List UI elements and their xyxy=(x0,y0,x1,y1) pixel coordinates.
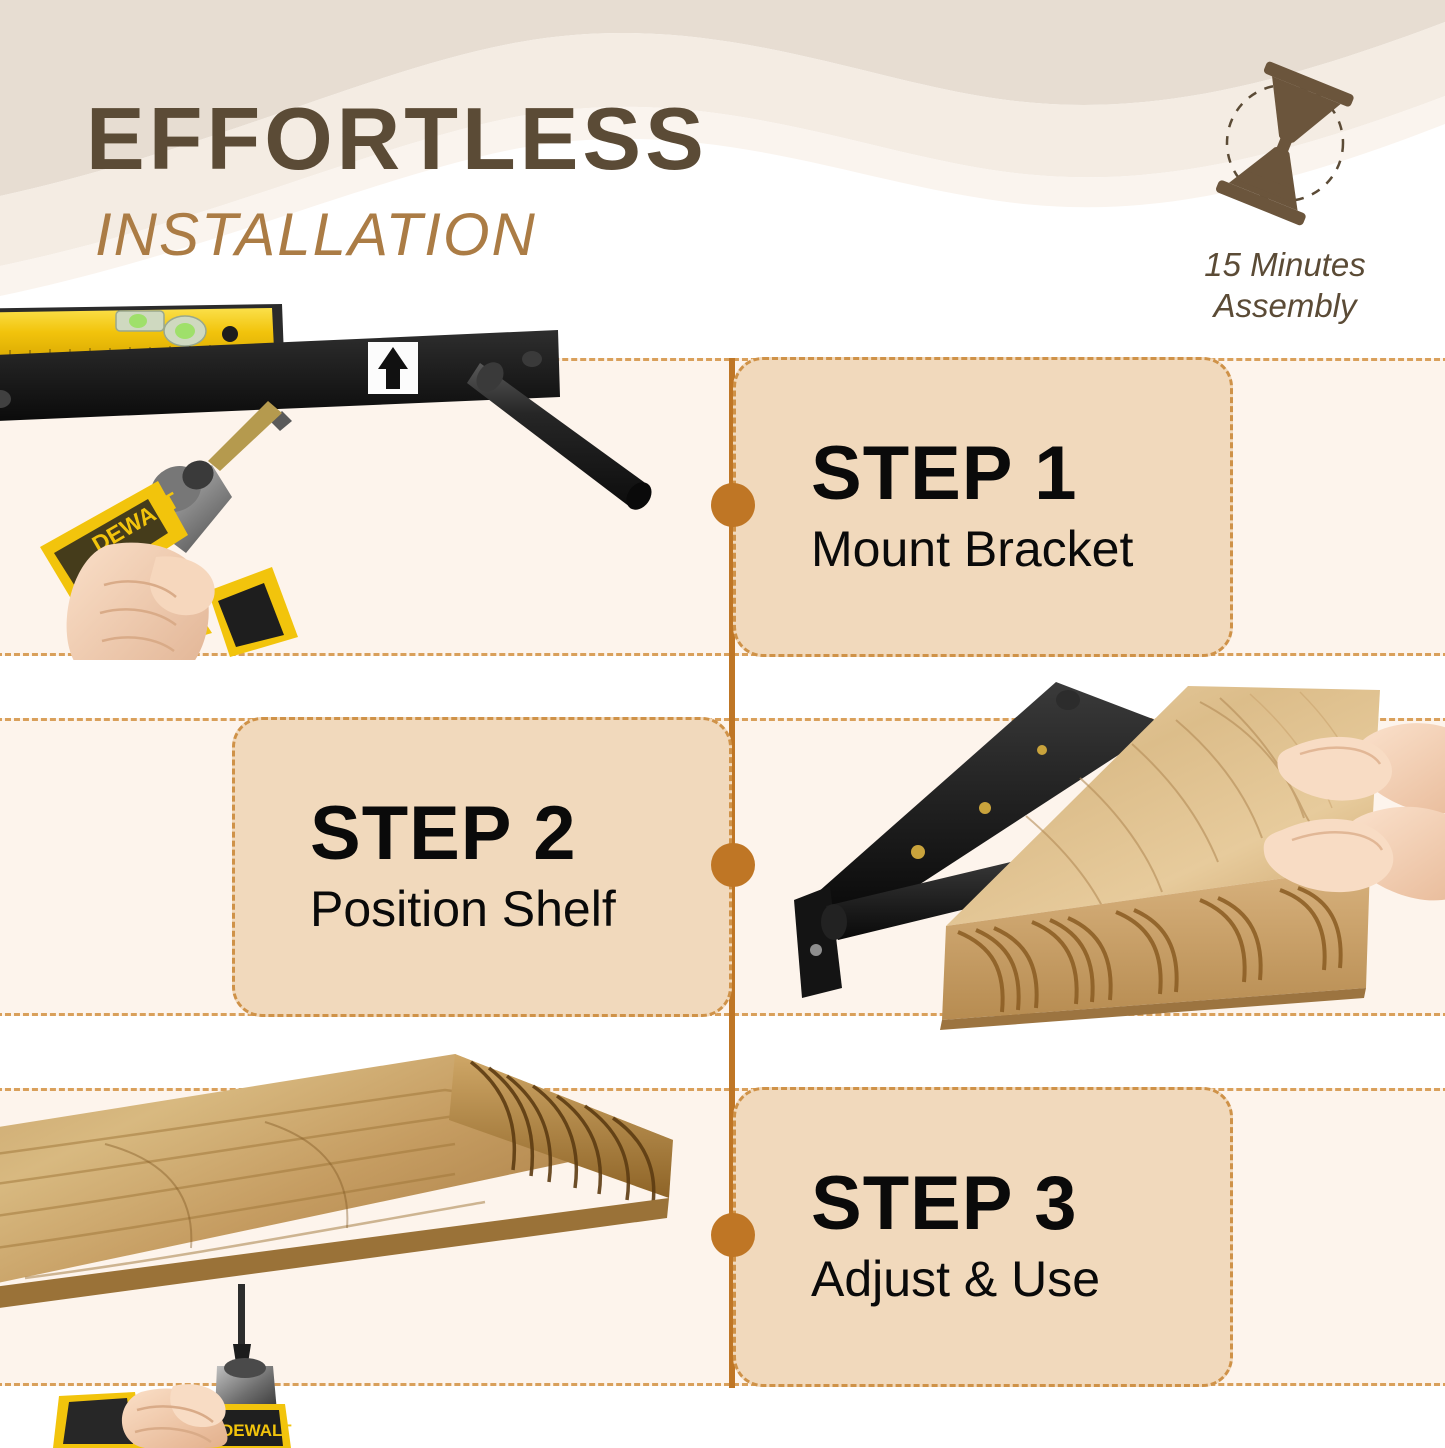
badge-line-2: Assembly xyxy=(1160,285,1410,326)
hourglass-icon xyxy=(1160,55,1410,235)
timeline-dot-step-3 xyxy=(711,1213,755,1257)
timeline-dot-step-2 xyxy=(711,843,755,887)
svg-text:DEWALT: DEWALT xyxy=(221,1421,292,1440)
page-title: EFFORTLESS xyxy=(86,95,708,183)
assembly-time-label: 15 Minutes Assembly xyxy=(1160,244,1410,327)
page-subtitle: INSTALLATION xyxy=(95,205,537,265)
timeline-dot-step-1 xyxy=(711,483,755,527)
photo-position-shelf xyxy=(780,668,1445,1058)
screw-icon xyxy=(233,1284,251,1370)
mounted-shelf-board xyxy=(0,1054,673,1314)
photo-adjust-use: DEWALT xyxy=(0,1048,705,1448)
hand-icon xyxy=(67,543,215,660)
step-1-number: STEP 1 xyxy=(811,435,1230,513)
assembly-time-badge: 15 Minutes Assembly xyxy=(1160,55,1410,327)
step-3-description: Adjust & Use xyxy=(811,1251,1230,1309)
shelf-rod-icon xyxy=(467,357,657,515)
step-card-3[interactable]: STEP 3 Adjust & Use xyxy=(733,1087,1233,1387)
header: EFFORTLESS INSTALLATION 15 Minutes Assem… xyxy=(0,0,1445,330)
badge-line-1: 15 Minutes xyxy=(1160,244,1410,285)
step-2-number: STEP 2 xyxy=(310,795,729,873)
screw-bit-icon xyxy=(208,401,292,471)
step-2-description: Position Shelf xyxy=(310,881,729,939)
step-card-2[interactable]: STEP 2 Position Shelf xyxy=(232,717,732,1017)
photo-bracket-drill: DEWALT xyxy=(0,285,680,660)
hand-icon xyxy=(122,1384,228,1448)
step-1-description: Mount Bracket xyxy=(811,521,1230,579)
step-3-number: STEP 3 xyxy=(811,1165,1230,1243)
step-card-1[interactable]: STEP 1 Mount Bracket xyxy=(733,357,1233,657)
